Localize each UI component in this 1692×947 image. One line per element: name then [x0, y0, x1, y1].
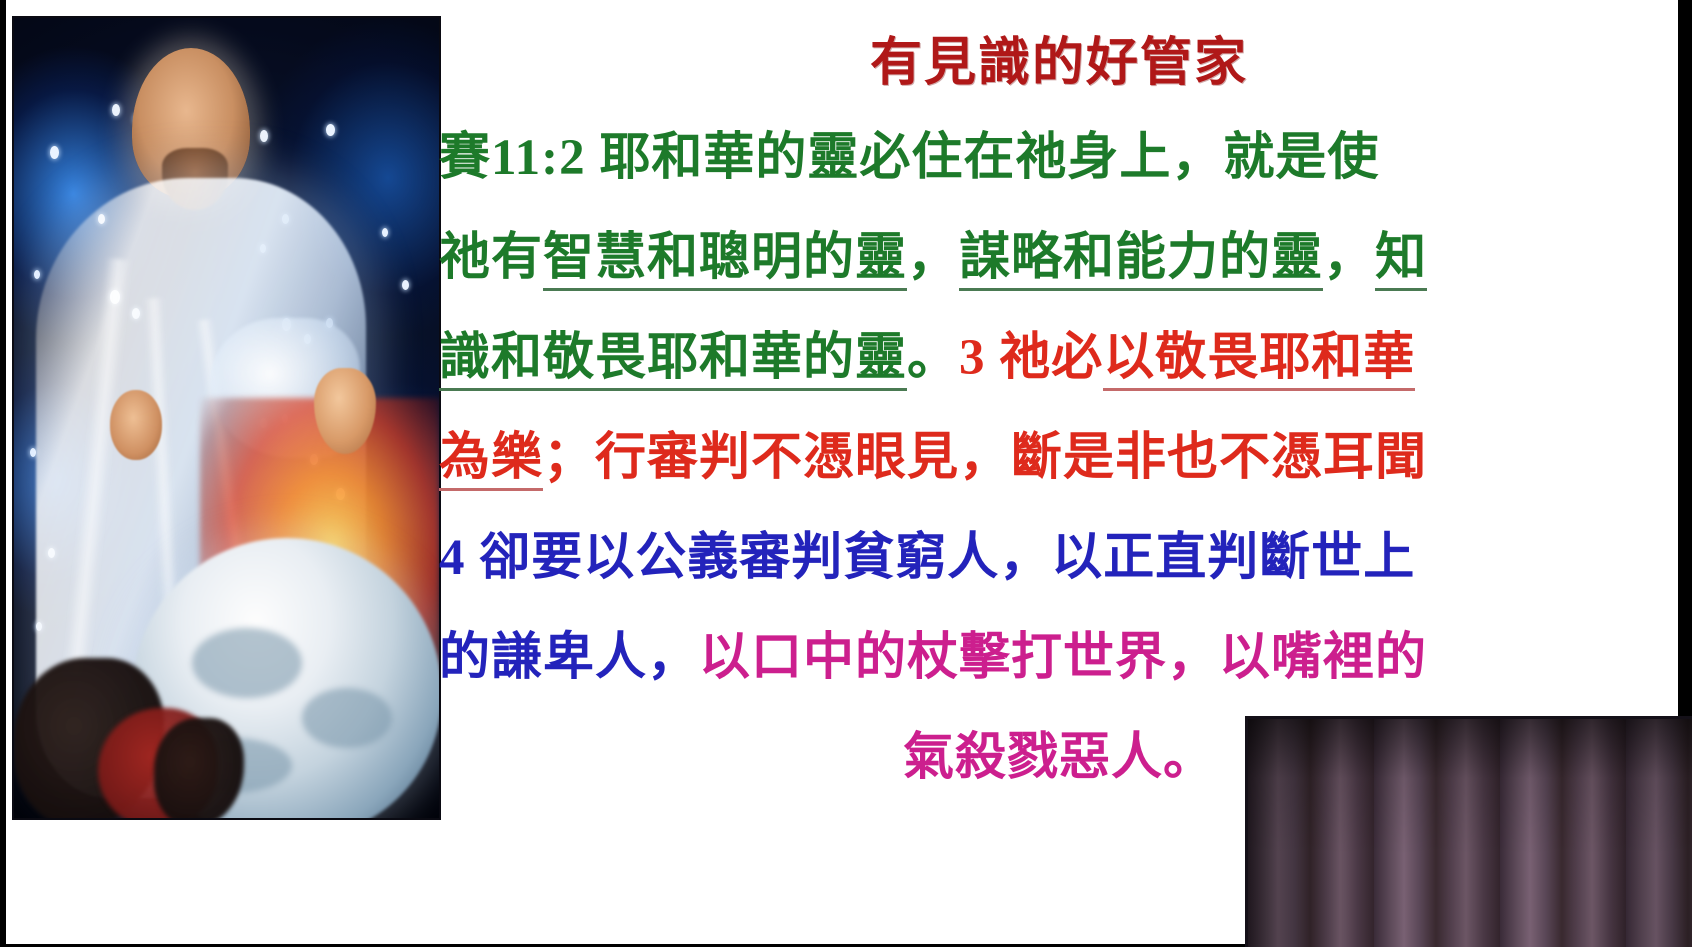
scripture-line: 賽11:2 耶和華的靈必住在祂身上，就是使	[439, 108, 1679, 208]
screen-root: 有見識的好管家 賽11:2 耶和華的靈必住在祂身上，就是使祂有智慧和聰明的靈，謀…	[0, 0, 1692, 944]
scripture-segment-underlined: 以敬畏耶和華	[1103, 330, 1415, 391]
scripture-segment: ；行審判不憑眼見，斷是非也不憑耳聞	[543, 430, 1427, 486]
slide-text-column: 有見識的好管家 賽11:2 耶和華的靈必住在祂身上，就是使祂有智慧和聰明的靈，謀…	[439, 14, 1679, 814]
scripture-line: 4 卻要以公義審判貧窮人，以正直判斷世上	[439, 508, 1679, 608]
scripture-line: 祂有智慧和聰明的靈，謀略和能力的靈，知	[439, 208, 1679, 308]
scripture-segment-underlined: 知	[1375, 230, 1427, 291]
scripture-segment: 的謙卑人，	[439, 630, 699, 686]
scripture-segment: ，	[1323, 230, 1375, 286]
scripture-segment: 祂有	[439, 230, 543, 286]
scripture-segment-underlined: 智慧和聰明的靈	[543, 230, 907, 291]
scripture-segment: 以口中的杖擊打世界，以嘴裡的	[699, 630, 1427, 686]
page-title: 有見識的好管家	[439, 14, 1679, 90]
scripture-segment: 。	[907, 330, 959, 386]
scripture-line: 識和敬畏耶和華的靈。3 祂必以敬畏耶和華	[439, 308, 1679, 408]
scripture-segment-underlined: 謀略和能力的靈	[959, 230, 1323, 291]
participant-video-thumbnail[interactable]	[1245, 716, 1692, 947]
scripture-line: 的謙卑人，以口中的杖擊打世界，以嘴裡的	[439, 608, 1679, 708]
scripture-segment-underlined: 識和敬畏耶和華的靈	[439, 330, 907, 391]
figure-hand-left	[110, 390, 162, 460]
illustration-image	[14, 18, 439, 818]
scripture-line: 為樂；行審判不憑眼見，斷是非也不憑耳聞	[439, 408, 1679, 508]
scripture-body: 賽11:2 耶和華的靈必住在祂身上，就是使祂有智慧和聰明的靈，謀略和能力的靈，知…	[439, 108, 1679, 808]
scripture-segment: 3 祂必	[959, 330, 1103, 386]
scripture-segment: 4 卻要以公義審判貧窮人，以正直判斷世上	[439, 530, 1415, 586]
foreground-rock	[154, 718, 244, 818]
scripture-segment: 賽11:2 耶和華的靈必住在祂身上，就是使	[439, 130, 1379, 186]
scripture-segment: ，	[907, 230, 959, 286]
curtain-shading	[1248, 719, 1692, 947]
scripture-segment: 氣殺戮惡人。	[903, 730, 1215, 786]
scripture-segment-underlined: 為樂	[439, 430, 543, 491]
